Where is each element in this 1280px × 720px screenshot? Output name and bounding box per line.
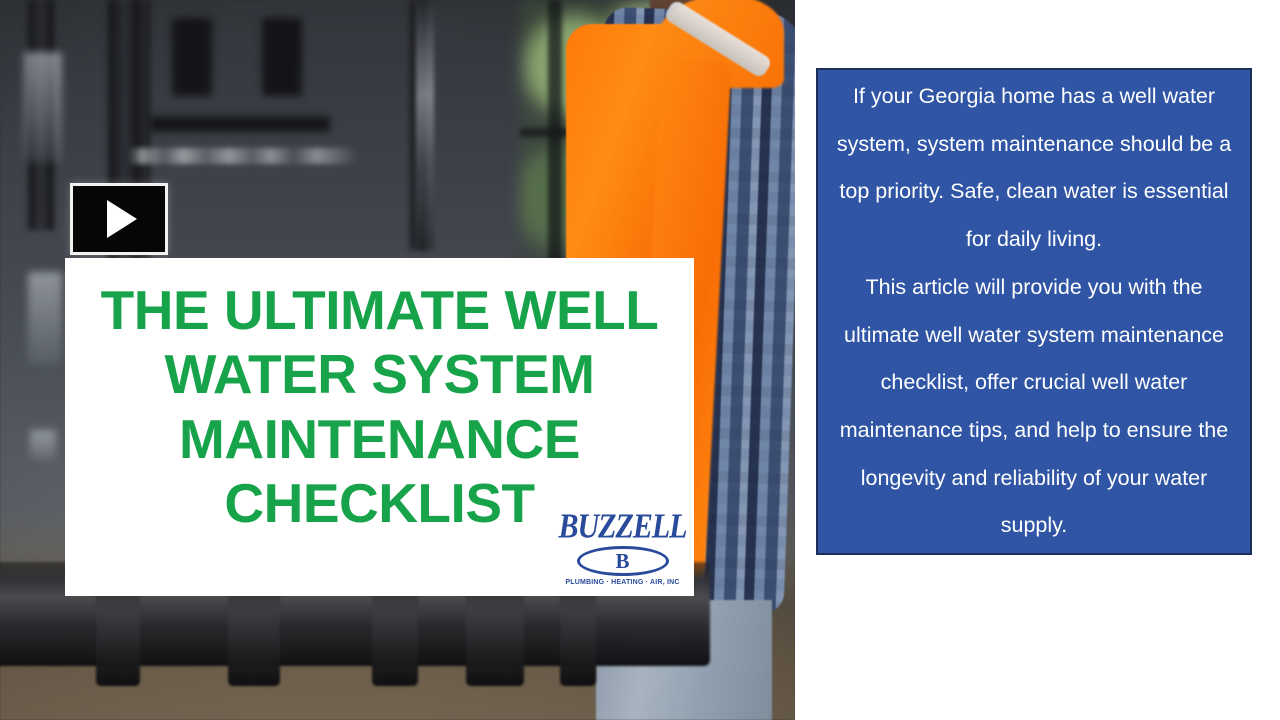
title-card: THE ULTIMATE WELL WATER SYSTEM MAINTENAN… [65,258,694,596]
slide-root: THE ULTIMATE WELL WATER SYSTEM MAINTENAN… [0,0,1280,720]
logo-monogram-icon: B [577,546,669,576]
rig-highlight [28,272,62,364]
play-button[interactable] [70,183,168,255]
description-text: If your Georgia home has a well water sy… [828,73,1240,550]
rig-plate [150,116,330,132]
rig-plate [262,18,302,96]
page-title: THE ULTIMATE WELL WATER SYSTEM MAINTENAN… [79,278,680,535]
buzzell-logo: BUZZELL B PLUMBING · HEATING · AIR, INC [565,512,680,586]
logo-tagline: PLUMBING · HEATING · AIR, INC [565,579,679,586]
description-box: If your Georgia home has a well water sy… [816,68,1252,555]
rig-highlight [30,430,56,460]
video-thumbnail-panel[interactable]: THE ULTIMATE WELL WATER SYSTEM MAINTENAN… [0,0,795,720]
rig-plate [172,18,212,96]
rig-serial-marking [128,148,358,164]
logo-wordmark: BUZZELL [559,509,687,544]
rig-highlight [24,52,62,162]
play-triangle-icon [107,200,137,238]
rig-pipe [416,0,434,250]
